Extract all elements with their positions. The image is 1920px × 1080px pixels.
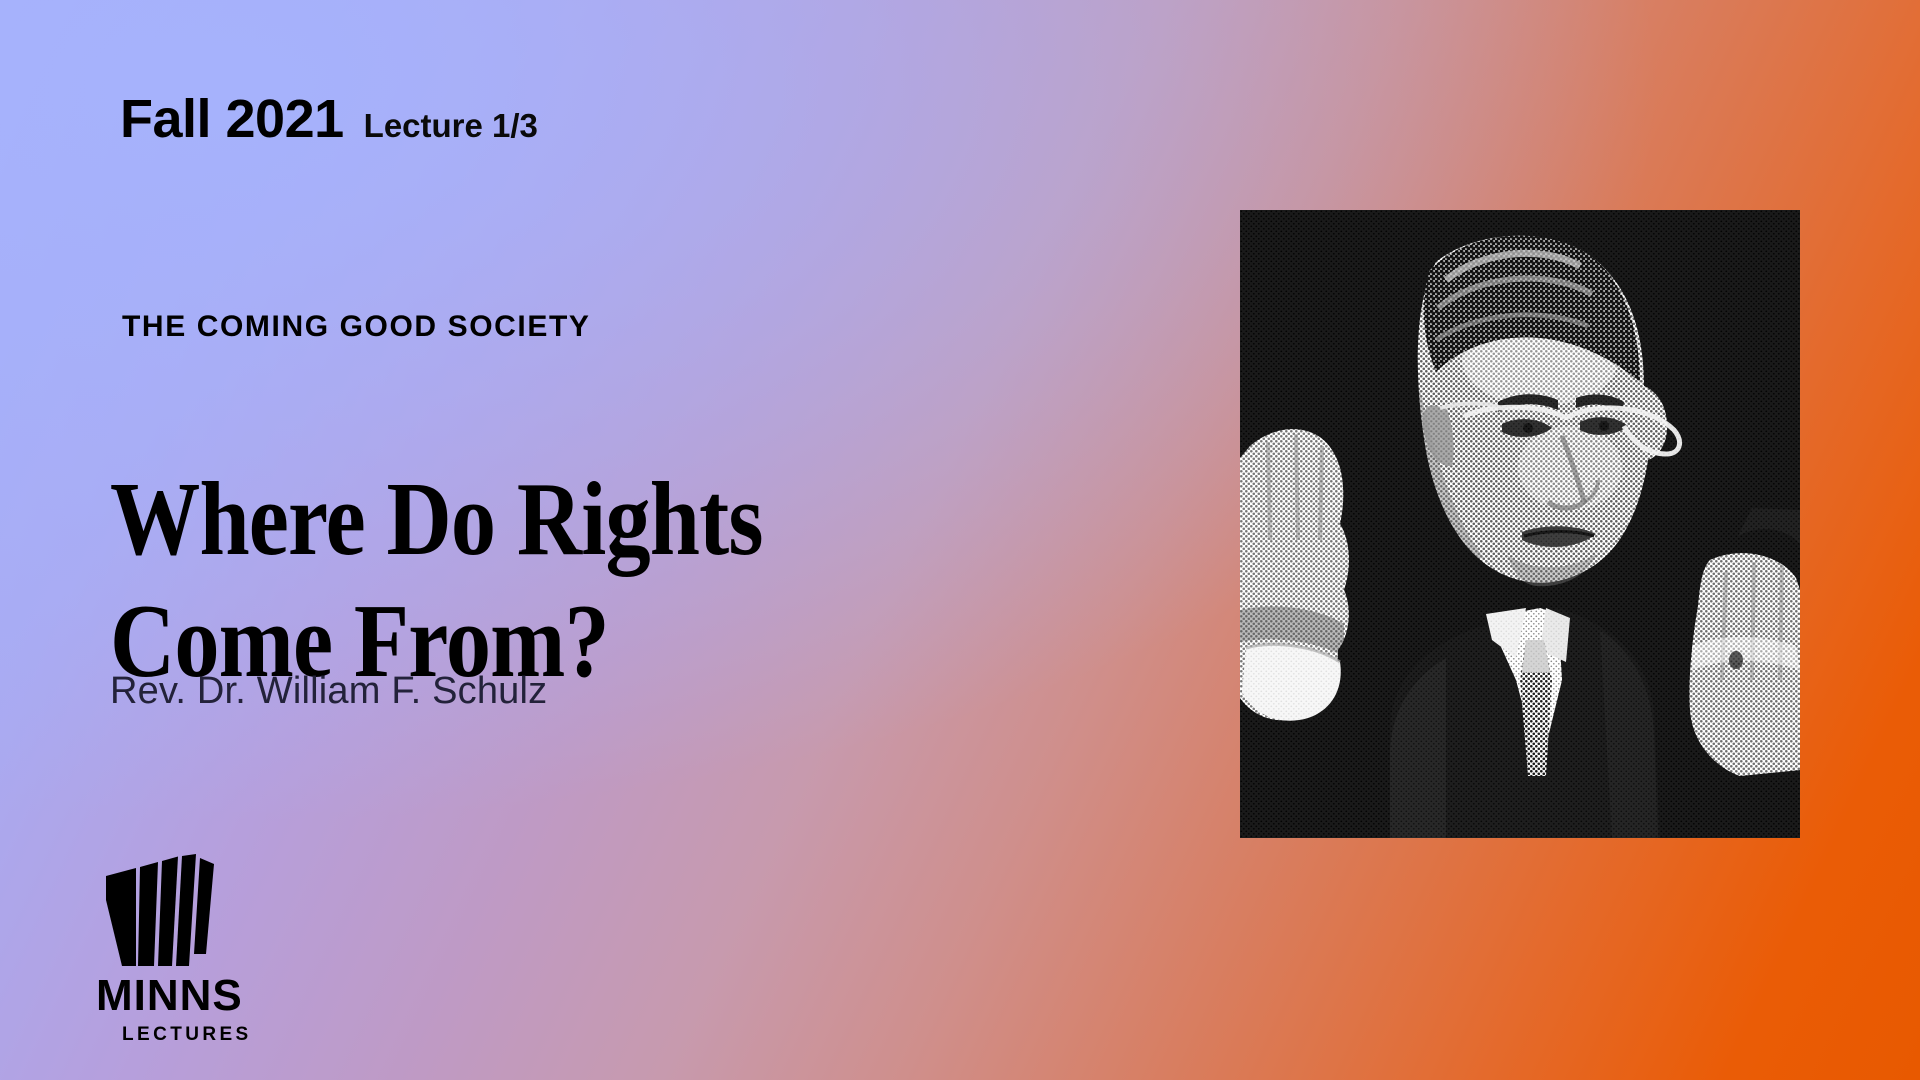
speaker-name: Rev. Dr. William F. Schulz: [110, 672, 547, 710]
logo-wordmark: MINNS: [96, 974, 306, 1018]
minns-lectures-logo: MINNS LECTURES: [96, 854, 306, 1044]
speaker-portrait: [1240, 210, 1800, 838]
lecture-promo-slide: Fall 2021 Lecture 1/3 THE COMING GOOD SO…: [0, 0, 1920, 1080]
eyebrow: Fall 2021 Lecture 1/3: [120, 92, 538, 146]
title-line-1: Where Do Rights: [110, 458, 953, 580]
logo-subword: LECTURES: [122, 1025, 306, 1044]
term-label: Fall 2021: [120, 92, 344, 146]
lecture-number-label: Lecture 1/3: [364, 109, 538, 142]
series-kicker: THE COMING GOOD SOCIETY: [122, 312, 591, 342]
page-title: Where Do Rights Come From?: [110, 458, 953, 702]
minns-columns-icon: [102, 854, 224, 966]
